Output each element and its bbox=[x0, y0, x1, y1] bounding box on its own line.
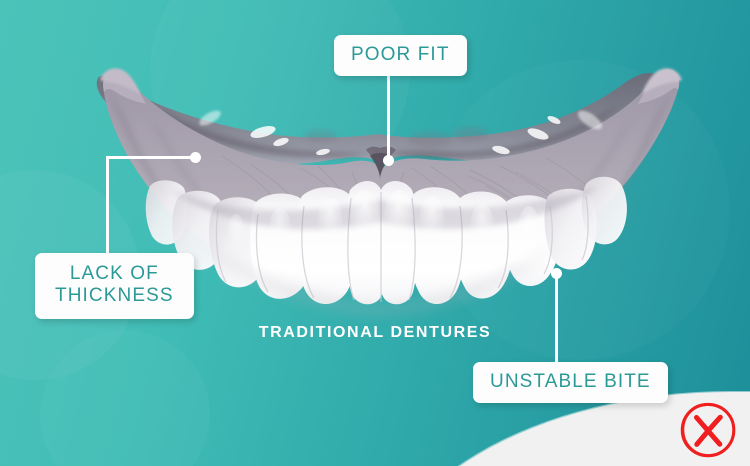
rejected-x-icon bbox=[679, 401, 737, 459]
leader-line-poor-fit bbox=[387, 72, 390, 160]
callout-poor-fit[interactable]: POOR FIT bbox=[334, 35, 467, 76]
leader-dot-unstable-bite bbox=[551, 268, 562, 279]
leader-line-lack-of-thickness-vertical bbox=[106, 156, 109, 256]
callout-lack-of-thickness[interactable]: LACK OF THICKNESS bbox=[35, 253, 194, 319]
page-title: TRADITIONAL DENTURES bbox=[0, 324, 750, 342]
leader-line-lack-of-thickness-horizontal bbox=[106, 156, 196, 159]
callout-unstable-bite[interactable]: UNSTABLE BITE bbox=[473, 362, 668, 403]
leader-dot-poor-fit bbox=[383, 155, 394, 166]
leader-dot-lack-of-thickness bbox=[190, 152, 201, 163]
infographic-canvas: POOR FIT LACK OF THICKNESS UNSTABLE BITE… bbox=[0, 0, 750, 466]
leader-line-unstable-bite bbox=[555, 273, 558, 363]
